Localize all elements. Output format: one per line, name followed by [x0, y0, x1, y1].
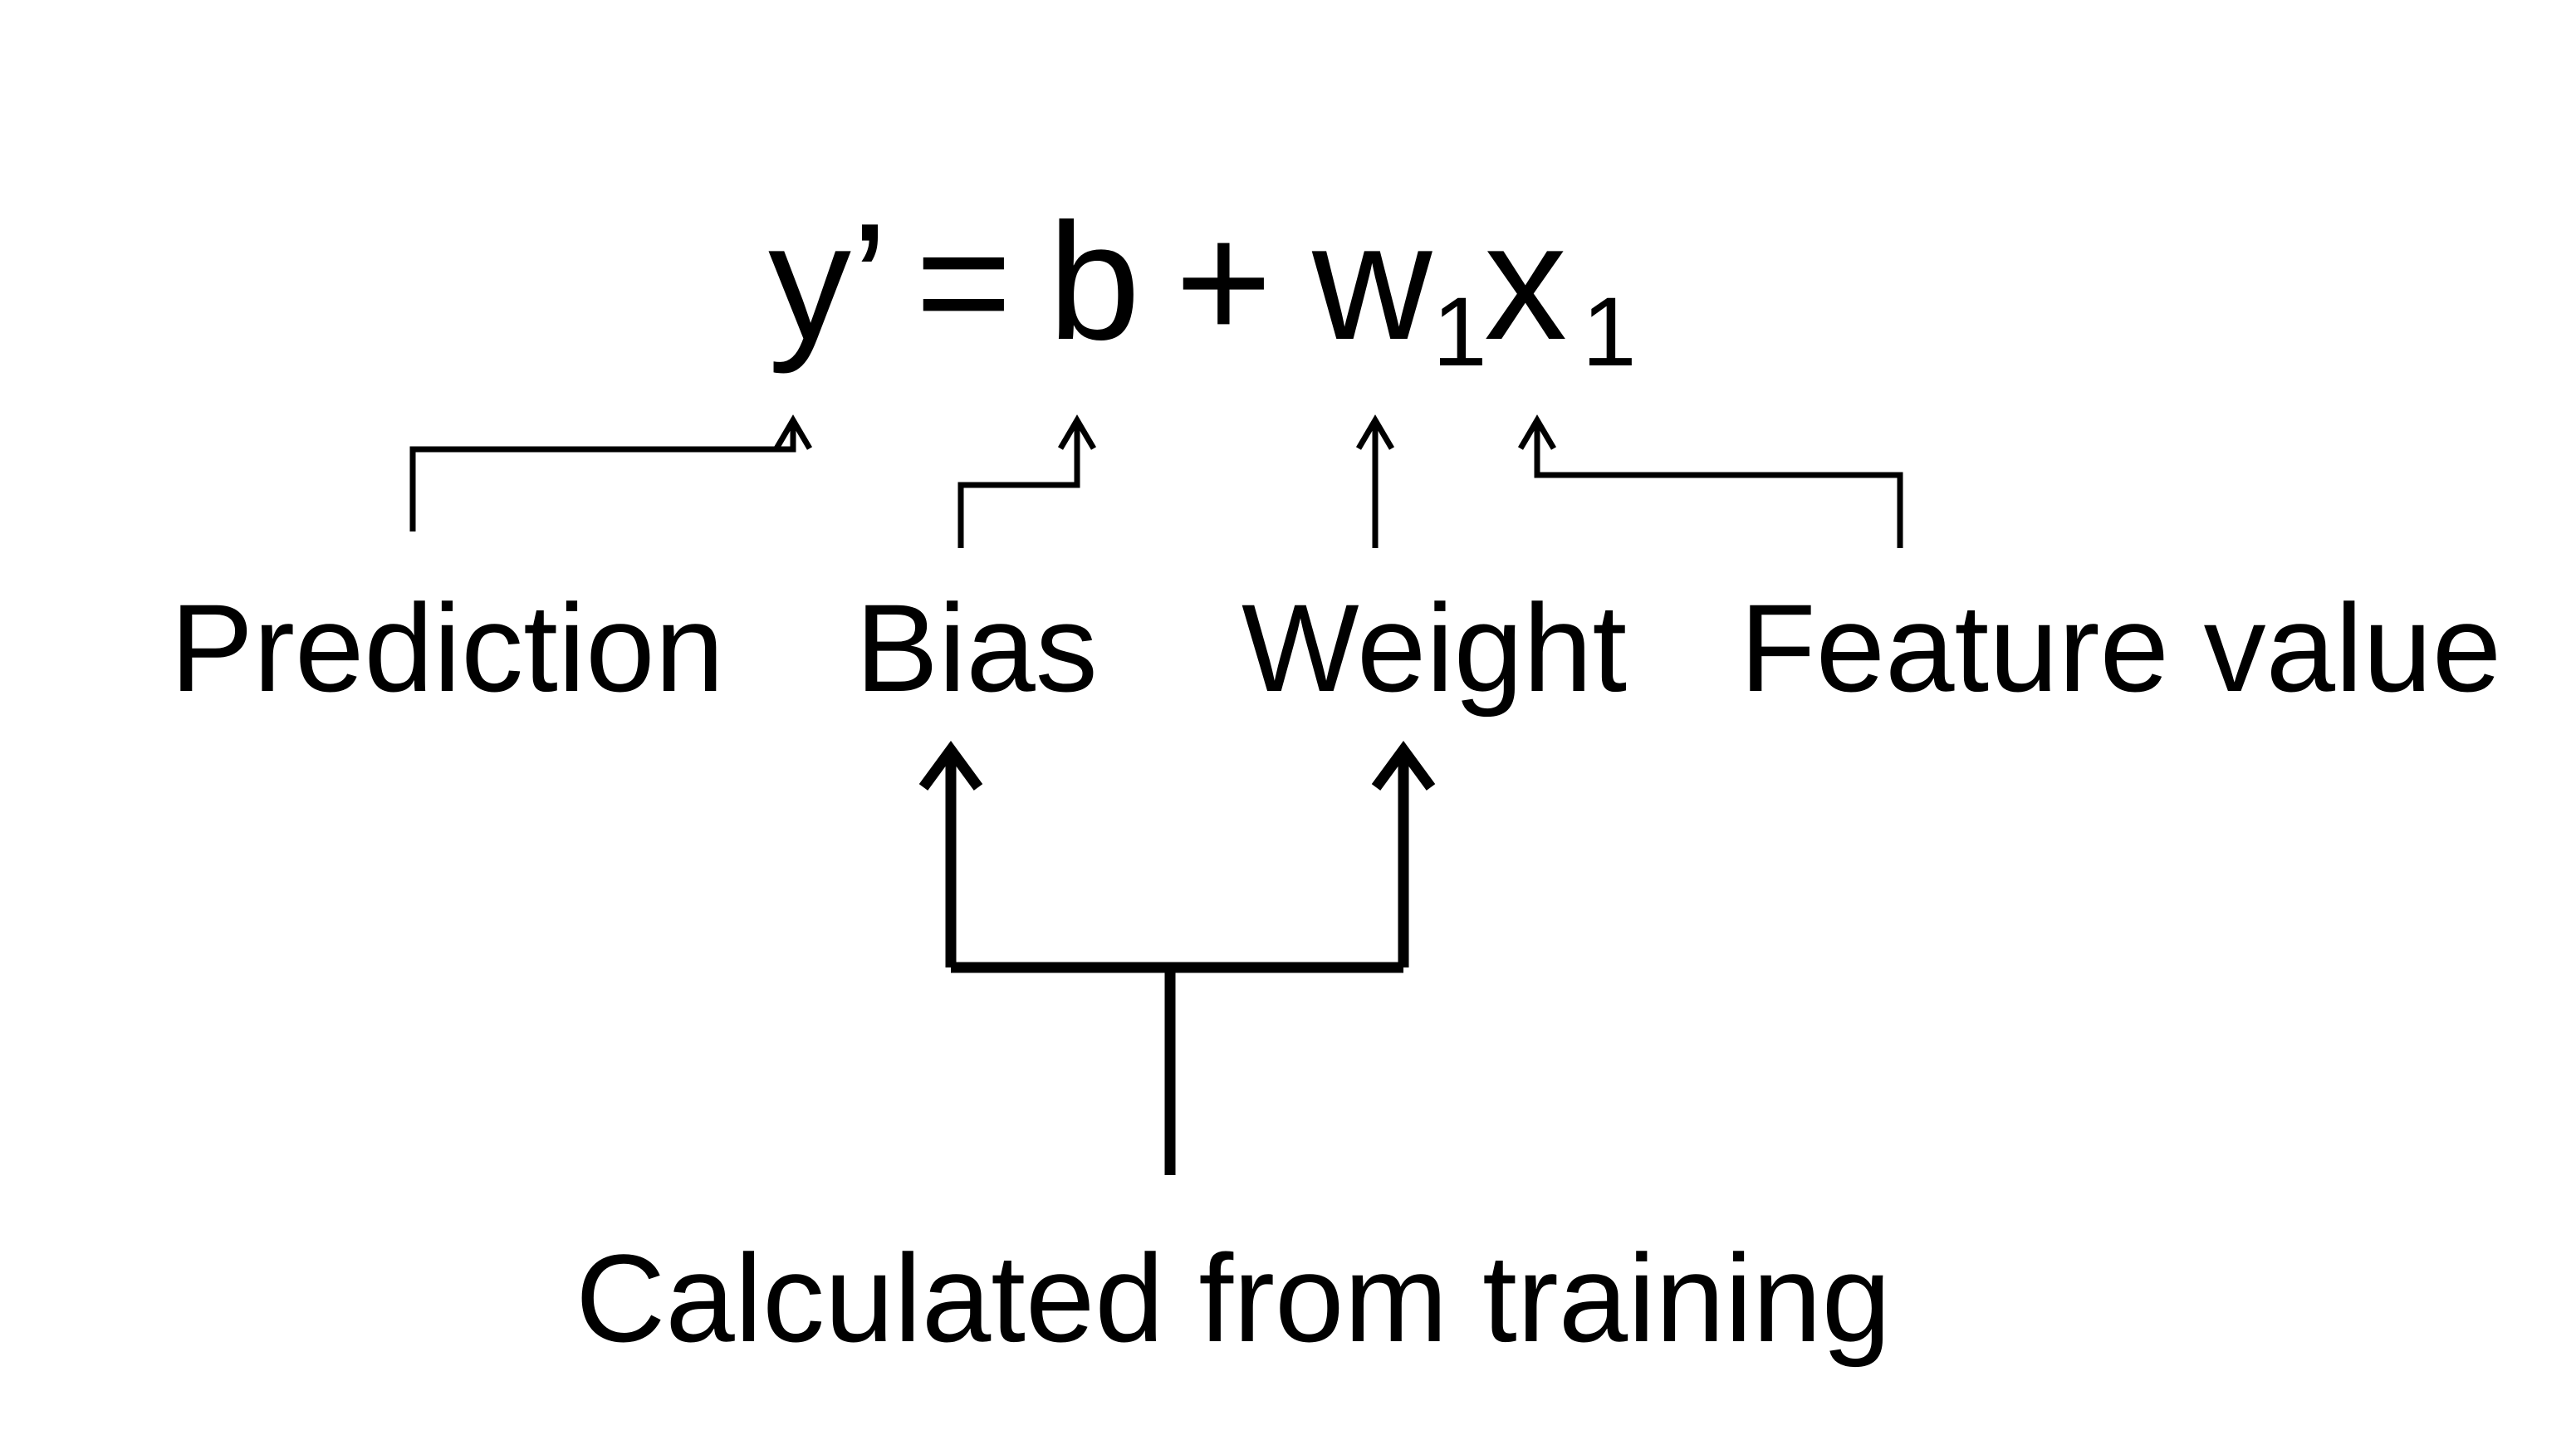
equation-token-plus: +	[1175, 189, 1272, 375]
label-prediction: Prediction	[170, 578, 724, 718]
bottom-label-group: Calculated from training	[575, 1228, 1891, 1368]
label-calculated-from-training: Calculated from training	[575, 1228, 1891, 1368]
feature-value-connector	[1521, 420, 1900, 548]
equation-token-equals: =	[915, 189, 1012, 375]
label-row: Prediction Bias Weight Feature value	[170, 578, 2501, 718]
equation-token-weight-subscript: 1	[1432, 277, 1487, 387]
equation-token-bias: b	[1048, 189, 1140, 375]
training-bracket-connector	[923, 750, 1431, 1175]
equation-token-feature: x	[1484, 189, 1567, 375]
equation-group: y’ = b + w 1 x 1	[768, 189, 1637, 387]
equation-annotation-diagram: y’ = b + w 1 x 1	[0, 0, 2576, 1440]
prediction-connector	[413, 420, 810, 531]
bias-connector	[961, 420, 1094, 548]
diagram-canvas: y’ = b + w 1 x 1	[0, 0, 2576, 1440]
label-weight: Weight	[1241, 578, 1627, 718]
equation-token-weight: w	[1311, 189, 1432, 375]
equation-token-y-prime: y’	[768, 189, 888, 375]
weight-connector	[1359, 420, 1392, 548]
label-feature-value: Feature value	[1740, 578, 2501, 718]
equation-token-feature-subscript: 1	[1582, 277, 1637, 387]
label-bias: Bias	[855, 578, 1098, 718]
